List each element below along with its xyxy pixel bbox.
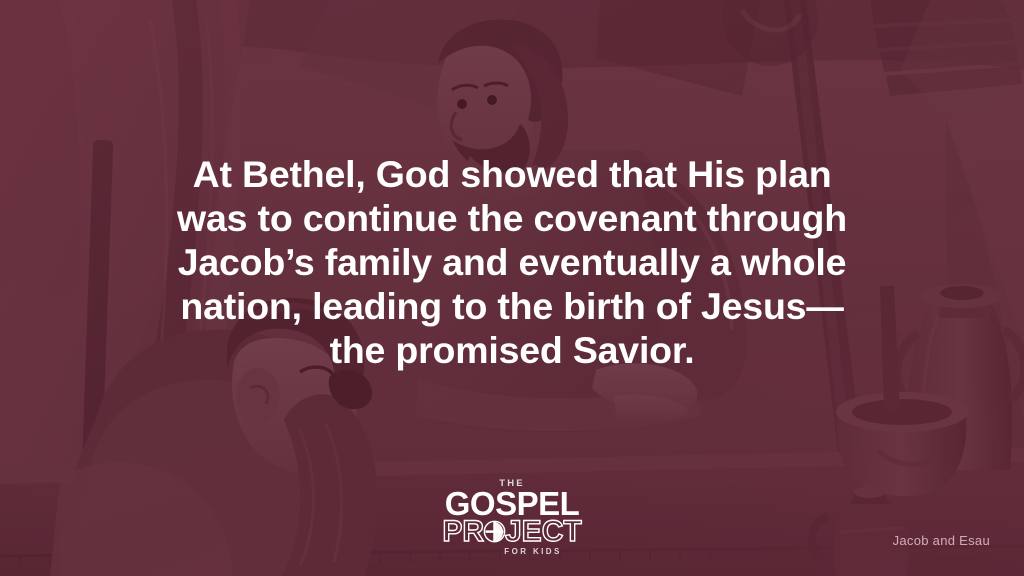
- statement-line: was to continue the covenant through: [152, 196, 872, 240]
- story-title-caption: Jacob and Esau: [893, 533, 990, 548]
- logo-project-left-text: PR: [442, 518, 484, 547]
- logo-project-row: PR JECT: [427, 518, 597, 547]
- cross-shield-icon: [483, 519, 506, 544]
- statement-line: At Bethel, God showed that His plan: [152, 152, 872, 196]
- logo-the-text: THE: [427, 479, 597, 489]
- statement-line: Jacob’s family and eventually a whole: [152, 240, 872, 284]
- main-statement-text: At Bethel, God showed that His plan was …: [152, 152, 872, 372]
- gospel-project-logo: THE GOSPEL PR JECT FOR KIDS: [427, 479, 597, 556]
- logo-project-right-text: JECT: [505, 518, 582, 547]
- logo-for-kids-text: FOR KIDS: [427, 548, 597, 556]
- statement-line: nation, leading to the birth of Jesus—: [152, 284, 872, 328]
- statement-line: the promised Savior.: [152, 328, 872, 372]
- slide-root: At Bethel, God showed that His plan was …: [0, 0, 1024, 576]
